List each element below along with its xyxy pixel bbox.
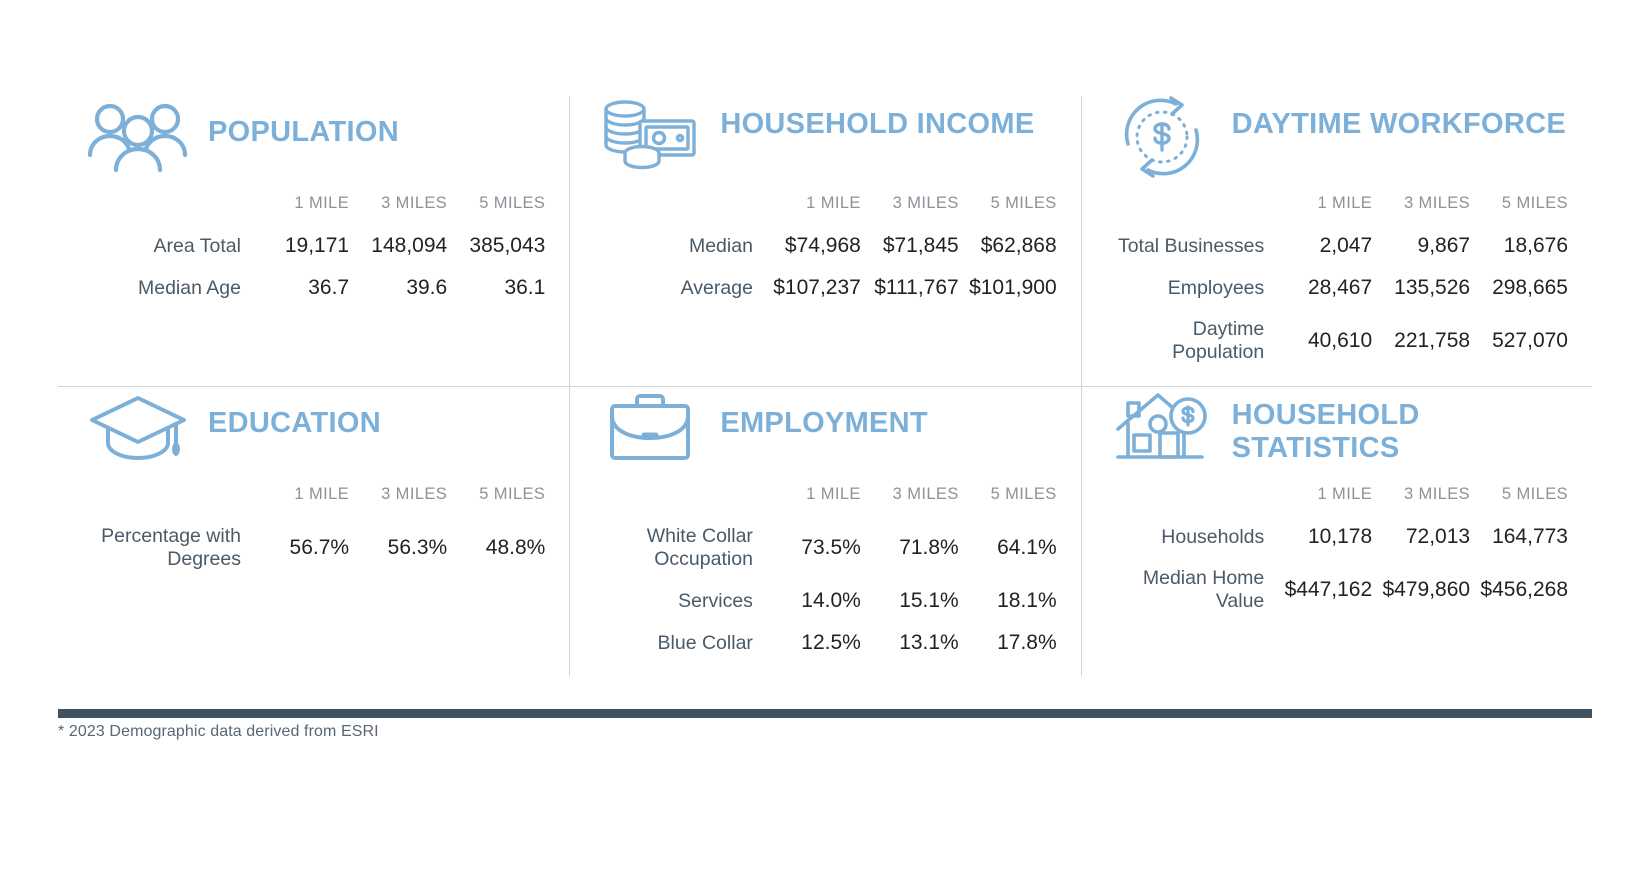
table-row: Average $107,237 $111,767 $101,900 (588, 267, 1062, 309)
table-row: White Collar Occupation 73.5% 71.8% 64.1… (588, 516, 1062, 580)
row-value-3-miles: 9,867 (1378, 225, 1476, 267)
row-value-1-mile: 28,467 (1280, 267, 1378, 309)
stats-table: 1 MILE 3 MILES 5 MILES Percentage with D… (76, 485, 551, 580)
row-value-5-miles: 36.1 (453, 267, 551, 309)
column-header-3-miles: 3 MILES (867, 194, 965, 225)
column-header-1-mile: 1 MILE (769, 485, 867, 516)
row-value-5-miles: $62,868 (965, 225, 1063, 267)
stats-table: 1 MILE 3 MILES 5 MILES Total Businesses … (1100, 194, 1574, 373)
row-value-5-miles: 18,676 (1476, 225, 1574, 267)
panel-title: HOUSEHOLD STATISTICS (1232, 387, 1574, 465)
header-spacer (76, 194, 257, 225)
row-value-1-mile: 10,178 (1280, 516, 1378, 558)
panel-header: EDUCATION (76, 387, 551, 483)
panel-title: POPULATION (208, 96, 399, 149)
table-row: Percentage with Degrees 56.7% 56.3% 48.8… (76, 516, 551, 580)
row-value-5-miles: 527,070 (1476, 309, 1574, 373)
graduation-cap-icon (86, 387, 190, 469)
row-value-3-miles: 13.1% (867, 622, 965, 664)
row-value-3-miles: 39.6 (355, 267, 453, 309)
row-value-3-miles: $111,767 (867, 267, 965, 309)
dollar-cycle-icon (1110, 96, 1214, 178)
panel-education: EDUCATION 1 MILE 3 MILES 5 MILES Percent… (58, 386, 569, 676)
row-value-1-mile: 36.7 (257, 267, 355, 309)
column-header-3-miles: 3 MILES (1378, 194, 1476, 225)
row-label: White Collar Occupation (588, 516, 769, 580)
table-header-row: 1 MILE 3 MILES 5 MILES (588, 485, 1062, 516)
row-label: Median (588, 225, 769, 267)
column-header-3-miles: 3 MILES (1378, 485, 1476, 516)
money-icon (598, 96, 702, 178)
column-header-1-mile: 1 MILE (769, 194, 867, 225)
panel-household-statistics: HOUSEHOLD STATISTICS 1 MILE 3 MILES 5 MI… (1081, 386, 1592, 676)
column-header-3-miles: 3 MILES (355, 485, 453, 516)
row-value-5-miles: 17.8% (965, 622, 1063, 664)
row-value-5-miles: $456,268 (1476, 558, 1574, 622)
table-row: Employees 28,467 135,526 298,665 (1100, 267, 1574, 309)
row-value-1-mile: 19,171 (257, 225, 355, 267)
panel-header: HOUSEHOLD INCOME (588, 96, 1062, 192)
column-header-5-miles: 5 MILES (1476, 485, 1574, 516)
house-dollar-icon (1110, 387, 1214, 469)
row-label: Median Home Value (1100, 558, 1281, 622)
table-row: Area Total 19,171 148,094 385,043 (76, 225, 551, 267)
row-value-5-miles: 298,665 (1476, 267, 1574, 309)
row-value-5-miles: 48.8% (453, 516, 551, 580)
table-row: Services 14.0% 15.1% 18.1% (588, 580, 1062, 622)
panel-employment: EMPLOYMENT 1 MILE 3 MILES 5 MILES White … (569, 386, 1080, 676)
row-label: Median Age (76, 267, 257, 309)
table-row: Median Home Value $447,162 $479,860 $456… (1100, 558, 1574, 622)
row-value-3-miles: 148,094 (355, 225, 453, 267)
row-value-1-mile: 2,047 (1280, 225, 1378, 267)
row-label: Blue Collar (588, 622, 769, 664)
row-value-5-miles: 18.1% (965, 580, 1063, 622)
row-value-1-mile: $447,162 (1280, 558, 1378, 622)
table-row: Total Businesses 2,047 9,867 18,676 (1100, 225, 1574, 267)
column-header-1-mile: 1 MILE (257, 194, 355, 225)
row-value-3-miles: 135,526 (1378, 267, 1476, 309)
row-label: Total Businesses (1100, 225, 1281, 267)
row-label: Percentage with Degrees (76, 516, 257, 580)
row-value-3-miles: 15.1% (867, 580, 965, 622)
stats-table: 1 MILE 3 MILES 5 MILES Households 10,178… (1100, 485, 1574, 622)
row-value-1-mile: 73.5% (769, 516, 867, 580)
row-value-3-miles: 221,758 (1378, 309, 1476, 373)
panel-header: DAYTIME WORKFORCE (1100, 96, 1574, 192)
table-header-row: 1 MILE 3 MILES 5 MILES (1100, 485, 1574, 516)
panel-daytime-workforce: DAYTIME WORKFORCE 1 MILE 3 MILES 5 MILES… (1081, 96, 1592, 386)
table-row: Daytime Population 40,610 221,758 527,07… (1100, 309, 1574, 373)
row-value-3-miles: 71.8% (867, 516, 965, 580)
panel-grid: POPULATION 1 MILE 3 MILES 5 MILES Area T… (58, 96, 1592, 676)
row-label: Area Total (76, 225, 257, 267)
stats-table: 1 MILE 3 MILES 5 MILES Median $74,968 $7… (588, 194, 1062, 309)
column-header-1-mile: 1 MILE (257, 485, 355, 516)
column-header-3-miles: 3 MILES (867, 485, 965, 516)
header-spacer (76, 485, 257, 516)
panel-population: POPULATION 1 MILE 3 MILES 5 MILES Area T… (58, 96, 569, 386)
column-header-3-miles: 3 MILES (355, 194, 453, 225)
panel-title: EDUCATION (208, 387, 381, 440)
table-row: Blue Collar 12.5% 13.1% 17.8% (588, 622, 1062, 664)
row-value-1-mile: 12.5% (769, 622, 867, 664)
row-value-1-mile: 14.0% (769, 580, 867, 622)
column-header-5-miles: 5 MILES (965, 194, 1063, 225)
row-value-1-mile: $107,237 (769, 267, 867, 309)
row-label: Average (588, 267, 769, 309)
row-value-1-mile: 40,610 (1280, 309, 1378, 373)
stats-table: 1 MILE 3 MILES 5 MILES Area Total 19,171… (76, 194, 551, 309)
row-label: Employees (1100, 267, 1281, 309)
row-label: Households (1100, 516, 1281, 558)
panel-header: POPULATION (76, 96, 551, 192)
demographics-infographic: POPULATION 1 MILE 3 MILES 5 MILES Area T… (0, 0, 1650, 891)
row-value-1-mile: 56.7% (257, 516, 355, 580)
column-header-1-mile: 1 MILE (1280, 194, 1378, 225)
table-row: Median Age 36.7 39.6 36.1 (76, 267, 551, 309)
column-header-1-mile: 1 MILE (1280, 485, 1378, 516)
people-icon (86, 96, 190, 178)
table-header-row: 1 MILE 3 MILES 5 MILES (1100, 194, 1574, 225)
header-spacer (588, 194, 769, 225)
column-header-5-miles: 5 MILES (453, 194, 551, 225)
panel-title: EMPLOYMENT (720, 387, 928, 440)
footnote-text: * 2023 Demographic data derived from ESR… (58, 723, 379, 741)
row-value-3-miles: $479,860 (1378, 558, 1476, 622)
row-label: Services (588, 580, 769, 622)
row-value-3-miles: 72,013 (1378, 516, 1476, 558)
row-value-3-miles: $71,845 (867, 225, 965, 267)
header-spacer (1100, 194, 1281, 225)
column-header-5-miles: 5 MILES (965, 485, 1063, 516)
panel-title: DAYTIME WORKFORCE (1232, 96, 1566, 141)
panel-header: EMPLOYMENT (588, 387, 1062, 483)
table-header-row: 1 MILE 3 MILES 5 MILES (76, 485, 551, 516)
stats-table: 1 MILE 3 MILES 5 MILES White Collar Occu… (588, 485, 1062, 664)
briefcase-icon (598, 387, 702, 469)
column-header-5-miles: 5 MILES (1476, 194, 1574, 225)
row-value-5-miles: 385,043 (453, 225, 551, 267)
row-value-5-miles: 164,773 (1476, 516, 1574, 558)
row-value-3-miles: 56.3% (355, 516, 453, 580)
panel-header: HOUSEHOLD STATISTICS (1100, 387, 1574, 483)
header-spacer (1100, 485, 1281, 516)
table-row: Households 10,178 72,013 164,773 (1100, 516, 1574, 558)
column-header-5-miles: 5 MILES (453, 485, 551, 516)
header-spacer (588, 485, 769, 516)
row-value-1-mile: $74,968 (769, 225, 867, 267)
panel-title: HOUSEHOLD INCOME (720, 96, 1034, 141)
table-row: Median $74,968 $71,845 $62,868 (588, 225, 1062, 267)
footer-divider-bar (58, 709, 1592, 718)
row-label: Daytime Population (1100, 309, 1281, 373)
table-header-row: 1 MILE 3 MILES 5 MILES (588, 194, 1062, 225)
row-value-5-miles: 64.1% (965, 516, 1063, 580)
panel-household-income: HOUSEHOLD INCOME 1 MILE 3 MILES 5 MILES … (569, 96, 1080, 386)
row-value-5-miles: $101,900 (965, 267, 1063, 309)
table-header-row: 1 MILE 3 MILES 5 MILES (76, 194, 551, 225)
